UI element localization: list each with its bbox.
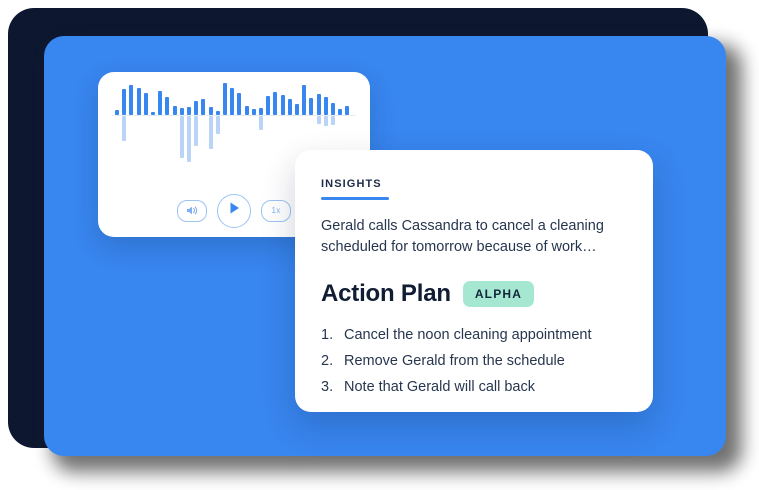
waveform-bar-up [324, 97, 328, 115]
action-plan-item-number: 3. [321, 374, 335, 400]
waveform-bar-up [288, 99, 292, 115]
play-triangle-icon [228, 201, 241, 220]
waveform-bar-up [295, 104, 299, 115]
waveform-bar-up [237, 93, 241, 115]
waveform-bar-up [302, 85, 306, 115]
waveform-bar-down [187, 116, 191, 162]
action-plan-item-number: 2. [321, 348, 335, 374]
waveform-bar-up [309, 98, 313, 115]
waveform-bar-up [158, 91, 162, 115]
insights-card: INSIGHTS Gerald calls Cassandra to cance… [295, 150, 653, 412]
screenshot-stage: 1x INSIGHTS Gerald calls Cassandra to ca… [0, 0, 759, 490]
waveform-bar-up [216, 111, 220, 115]
waveform-bar-up [259, 108, 263, 115]
waveform-bar-up [194, 101, 198, 115]
waveform-bar-up [252, 109, 256, 115]
volume-button[interactable] [177, 200, 207, 222]
waveform-bar-up [187, 107, 191, 115]
waveform-bar-up [281, 95, 285, 115]
waveform-bar-up [201, 99, 205, 115]
insights-summary: Gerald calls Cassandra to cancel a clean… [321, 216, 627, 258]
insights-kicker-wrap: INSIGHTS [321, 174, 627, 200]
waveform-bar-up [144, 93, 148, 115]
action-plan-item: 2.Remove Gerald from the schedule [321, 348, 627, 374]
waveform-bar-up [137, 88, 141, 115]
action-plan-item-text: Cancel the noon cleaning appointment [344, 322, 591, 348]
action-plan-item: 3.Note that Gerald will call back [321, 374, 627, 400]
insights-kicker: INSIGHTS [321, 178, 382, 196]
action-plan-title: Action Plan [321, 280, 451, 308]
waveform-bar-up [165, 97, 169, 115]
action-plan-header: Action Plan ALPHA [321, 280, 627, 308]
waveform-bar-up [273, 92, 277, 115]
action-plan-item-text: Remove Gerald from the schedule [344, 348, 565, 374]
waveform-bar-down [122, 116, 126, 141]
action-plan-item-number: 1. [321, 322, 335, 348]
waveform-bar-down [259, 116, 263, 130]
speaker-volume-icon [185, 205, 199, 216]
playback-speed-button[interactable]: 1x [261, 200, 291, 222]
waveform-bar-down [209, 116, 213, 149]
waveform-bar-up [122, 89, 126, 115]
waveform-bar-down [216, 116, 220, 134]
waveform-bar-up [180, 108, 184, 115]
action-plan-list: 1.Cancel the noon cleaning appointment2.… [321, 322, 627, 400]
waveform-bar-down [194, 116, 198, 146]
waveform-bar-up [317, 94, 321, 115]
play-button[interactable] [217, 194, 251, 228]
waveform-bar-up [223, 83, 227, 115]
waveform-bar-up [173, 106, 177, 115]
waveform-bar-up [338, 109, 342, 115]
action-plan-item-text: Note that Gerald will call back [344, 374, 535, 400]
playback-speed-label: 1x [271, 206, 280, 215]
waveform-bar-up [129, 85, 133, 115]
waveform-bar-up [266, 96, 270, 115]
waveform-bar-down [331, 116, 335, 125]
waveform-bar-up [345, 106, 349, 115]
alpha-badge: ALPHA [463, 281, 534, 307]
waveform-bar-up [245, 106, 249, 115]
waveform-bar-down [324, 116, 328, 126]
waveform-bar-up [230, 88, 234, 115]
waveform-bar-down [180, 116, 184, 158]
waveform-bar-up [115, 110, 119, 115]
waveform-bar-up [151, 112, 155, 115]
waveform-bar-up [209, 107, 213, 115]
waveform-bar-down [317, 116, 321, 124]
waveform-bar-up [331, 103, 335, 115]
insights-underline [321, 197, 389, 200]
action-plan-item: 1.Cancel the noon cleaning appointment [321, 322, 627, 348]
